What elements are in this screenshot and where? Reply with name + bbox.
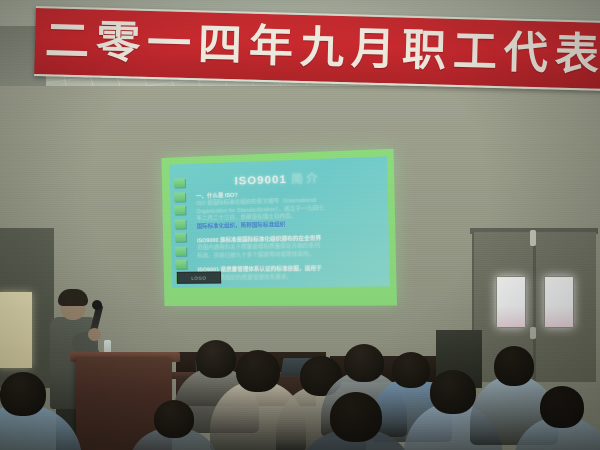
door-seam bbox=[533, 232, 536, 382]
slide-bullet-markers bbox=[174, 178, 194, 287]
projection-screen: ISO9001 简 介 一、什么是 ISO?ISO 是国际标准化组织的英文缩写（… bbox=[161, 149, 396, 306]
slide-title: ISO9001 简 介 bbox=[170, 167, 388, 191]
slide-bullet-icon bbox=[174, 178, 185, 187]
slide-bullet-icon bbox=[174, 192, 185, 201]
door-left[interactable] bbox=[0, 228, 54, 388]
slide-logo-text: LOGO bbox=[191, 275, 206, 280]
slide-body: 一、什么是 ISO?ISO 是国际标准化组织的英文缩写（Internationa… bbox=[196, 188, 381, 282]
door-latch-icon bbox=[530, 230, 536, 246]
door-window-left bbox=[496, 276, 526, 328]
conference-photo: 二零一四年九月职工代表大 ISO9001 简 介 一、什么是 ISO?ISO 是… bbox=[0, 0, 600, 450]
presentation-slide: ISO9001 简 介 一、什么是 ISO?ISO 是国际标准化组织的英文缩写（… bbox=[170, 156, 390, 288]
slide-bullet-icon bbox=[175, 260, 186, 269]
door-handle-icon[interactable] bbox=[530, 327, 536, 339]
audience-head bbox=[392, 352, 430, 388]
door-window-right bbox=[544, 276, 574, 328]
audience-head bbox=[494, 346, 534, 386]
audience-head bbox=[540, 386, 584, 428]
audience-head bbox=[0, 372, 46, 416]
slide-line: 各行业各类组织的质量管理体系要求。 bbox=[198, 273, 381, 282]
audience-head bbox=[236, 350, 280, 392]
door-left-lit-panel bbox=[0, 292, 32, 368]
presenter-hair bbox=[58, 289, 88, 306]
microphone-head-icon bbox=[92, 300, 102, 310]
double-door-right[interactable] bbox=[472, 232, 596, 382]
slide-bullet-icon bbox=[175, 219, 186, 228]
presenter-hand bbox=[88, 328, 101, 341]
banner-text: 二零一四年九月职工代表大 bbox=[44, 12, 600, 86]
slide-logo: LOGO bbox=[177, 271, 222, 284]
audience-head bbox=[344, 344, 384, 382]
audience-head bbox=[154, 400, 194, 438]
slide-title-cjk: 简 介 bbox=[291, 173, 318, 186]
audience-head bbox=[196, 340, 236, 378]
audience-head bbox=[430, 370, 476, 414]
slide-bullet-icon bbox=[175, 233, 186, 242]
slide-bullet-icon bbox=[174, 205, 185, 214]
slide-bullet-icon bbox=[175, 246, 186, 255]
slide-title-main: ISO9001 bbox=[234, 174, 287, 188]
audience-head bbox=[330, 392, 382, 442]
